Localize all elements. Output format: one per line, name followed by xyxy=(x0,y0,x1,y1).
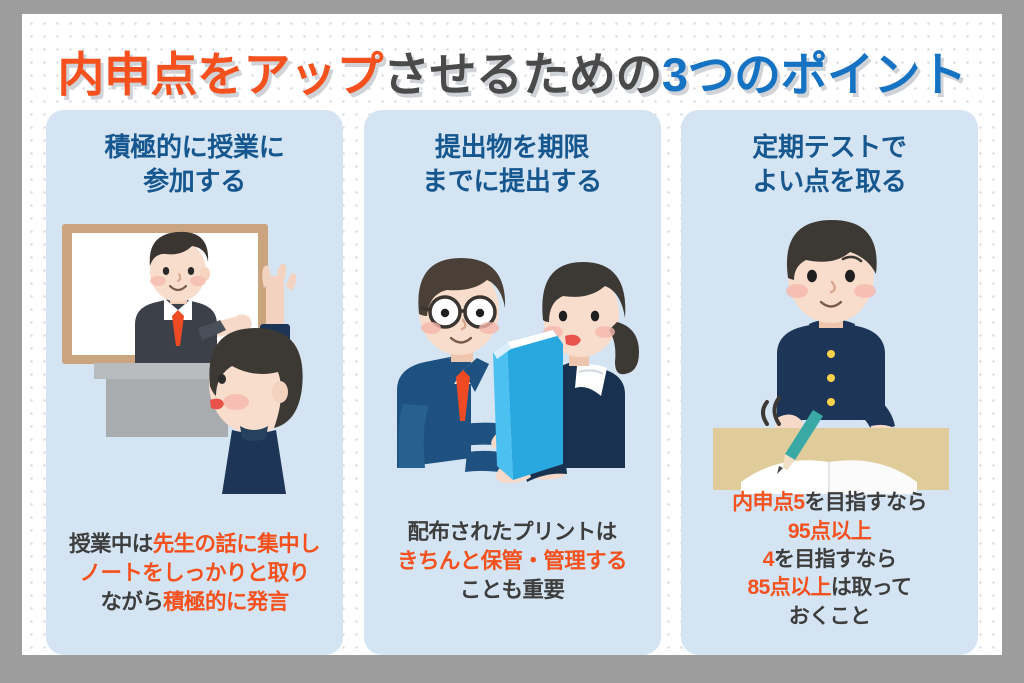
card-3-caption: 内申点5を目指すなら 95点以上 4を目指すなら 85点以上は取って おくこと xyxy=(681,489,978,631)
caption-part: を目指すなら xyxy=(804,491,926,514)
card-2-heading-line-1: 提出物を期限 xyxy=(364,130,661,164)
card-2-caption-line-1: 配布されたプリントは xyxy=(364,518,661,547)
card-1-caption-line-2: ノートをしっかりと取り xyxy=(46,559,343,588)
card-3-heading-line-1: 定期テストで xyxy=(681,130,978,164)
infographic-poster: 内申点をアップさせるための3つのポイント 積極的に授業に 参加する xyxy=(0,0,1024,683)
page-title: 内申点をアップさせるための3つのポイント xyxy=(22,36,1002,105)
caption-part: おくこと xyxy=(789,605,871,628)
card-3-heading-line-2: よい点を取る xyxy=(681,164,978,198)
card-2-heading-line-2: までに提出する xyxy=(364,164,661,198)
card-1-heading-line-1: 積極的に授業に xyxy=(46,130,343,164)
point-card-1: 積極的に授業に 参加する xyxy=(46,110,343,655)
card-3-heading: 定期テストで よい点を取る xyxy=(681,130,978,199)
caption-part: 授業中は xyxy=(69,532,153,556)
card-3-caption-line-2: 95点以上 xyxy=(681,518,978,546)
caption-part: 85点以上 xyxy=(748,576,831,599)
card-2-caption-line-3: ことも重要 xyxy=(364,576,661,605)
card-3-caption-line-1: 内申点5を目指すなら xyxy=(681,489,978,517)
illustration-handing-folder xyxy=(364,218,661,508)
card-2-caption-line-2: きちんと保管・管理する xyxy=(364,547,661,576)
caption-part: ながら xyxy=(100,590,163,614)
card-2-caption: 配布されたプリントは きちんと保管・管理する ことも重要 xyxy=(364,518,661,605)
caption-part: 積極的に発言 xyxy=(163,590,288,614)
caption-part: きちんと保管・管理する xyxy=(397,549,627,573)
card-3-caption-line-4: 85点以上は取って xyxy=(681,574,978,602)
illustration-student-writing xyxy=(681,214,978,494)
card-3-caption-line-3: 4を目指すなら xyxy=(681,546,978,574)
illustration-teacher-whiteboard xyxy=(46,216,343,506)
card-1-caption: 授業中は先生の話に集中し ノートをしっかりと取り ながら積極的に発言 xyxy=(46,530,343,617)
caption-part: 内申点5 xyxy=(732,491,804,514)
caption-part: 95点以上 xyxy=(788,520,871,543)
card-1-caption-line-3: ながら積極的に発言 xyxy=(46,588,343,617)
cards-row: 積極的に授業に 参加する xyxy=(46,110,978,655)
card-1-heading: 積極的に授業に 参加する xyxy=(46,130,343,199)
card-3-caption-line-5: おくこと xyxy=(681,603,978,631)
point-card-3: 定期テストで よい点を取る xyxy=(681,110,978,655)
caption-part: ノートをしっかりと取り xyxy=(80,561,310,585)
poster-canvas: 内申点をアップさせるための3つのポイント 積極的に授業に 参加する xyxy=(22,14,1002,655)
card-2-heading: 提出物を期限 までに提出する xyxy=(364,130,661,199)
caption-part: は取って xyxy=(831,576,912,599)
point-card-2: 提出物を期限 までに提出する xyxy=(364,110,661,655)
caption-part: 配布されたプリントは xyxy=(407,520,616,544)
title-segment-red: 内申点をアップ xyxy=(57,48,383,101)
caption-part: ことも重要 xyxy=(460,578,565,602)
title-segment-dark: させるための xyxy=(383,48,662,101)
caption-part: を目指すなら xyxy=(774,548,896,571)
card-1-heading-line-2: 参加する xyxy=(46,164,343,198)
caption-part: 4 xyxy=(763,548,774,571)
title-segment-blue: 3つのポイント xyxy=(662,48,967,101)
card-1-caption-line-1: 授業中は先生の話に集中し xyxy=(46,530,343,559)
caption-part: 先生の話に集中し xyxy=(153,532,320,556)
